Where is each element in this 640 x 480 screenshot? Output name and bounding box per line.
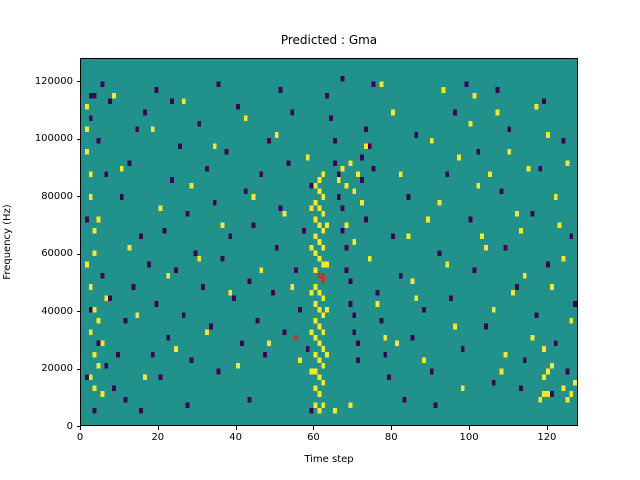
x-tick-label: 40 [206,432,266,443]
x-tick-mark [547,426,548,430]
y-tick-mark [77,311,81,312]
heatmap-plot-area [80,58,578,426]
x-tick-label: 0 [50,432,110,443]
x-tick-label: 20 [128,432,188,443]
y-tick-mark [77,369,81,370]
y-axis-label: Frequency (Hz) [2,204,14,279]
x-tick-mark [158,426,159,430]
y-tick-mark [77,196,81,197]
y-tick-mark [77,254,81,255]
x-tick-label: 100 [439,432,499,443]
matplotlib-figure: Predicted : Gma 020000400006000080000100… [0,0,640,480]
x-tick-mark [313,426,314,430]
y-tick-mark [77,81,81,82]
page-title: Predicted : Gma [80,33,578,47]
x-tick-label: 120 [517,432,577,443]
x-tick-mark [236,426,237,430]
y-tick-mark [77,139,81,140]
x-tick-mark [391,426,392,430]
x-tick-label: 60 [283,432,343,443]
x-axis-label: Time step [80,454,578,466]
x-tick-mark [469,426,470,430]
heatmap-image [81,59,577,425]
x-tick-label: 80 [361,432,421,443]
y-axis-label-container: Frequency (Hz) [0,58,16,426]
x-tick-mark [80,426,81,430]
